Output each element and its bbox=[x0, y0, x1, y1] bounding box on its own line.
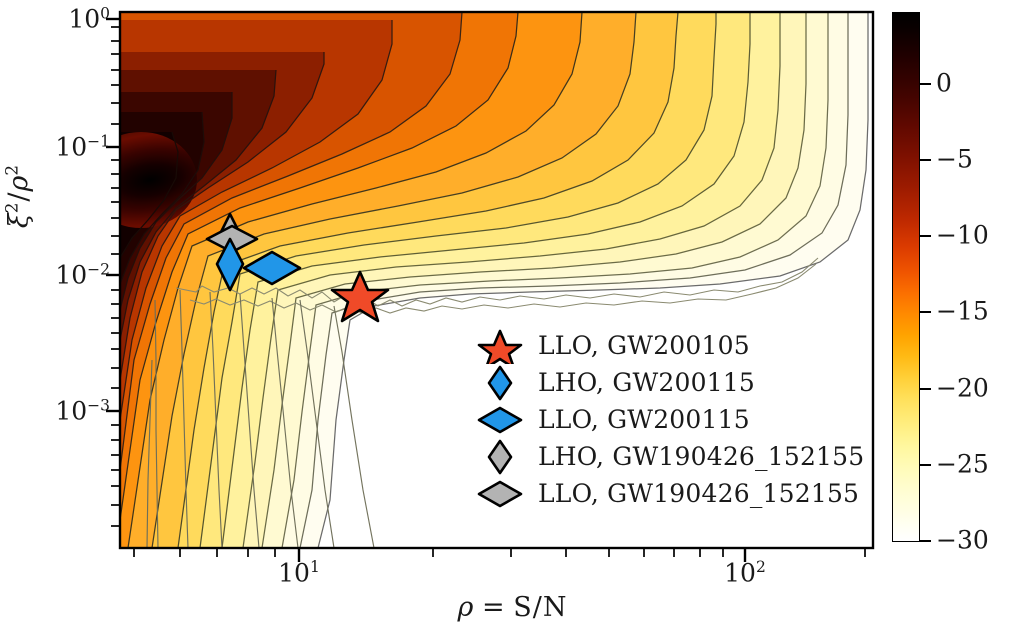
x-tick-label-1e1: 101 bbox=[278, 558, 320, 587]
x-tick-label-1e2: 102 bbox=[724, 558, 766, 587]
legend-label: LHO, GW190426_152155 bbox=[538, 442, 864, 471]
legend-item-llo-gw200105[interactable]: LLO, GW200105 bbox=[476, 327, 864, 364]
y-axis-label: ξ2/ρ2 bbox=[2, 87, 35, 307]
colorbar-gradient bbox=[892, 12, 920, 542]
legend-item-llo-gw200115[interactable]: LLO, GW200115 bbox=[476, 401, 864, 438]
thin-diamond-icon bbox=[476, 364, 524, 401]
colorbar-tick-0 bbox=[920, 83, 931, 85]
x-axis-label: ρ = S/N bbox=[0, 592, 1024, 623]
legend-label: LLO, GW200105 bbox=[538, 331, 750, 360]
y-tick-label-1e-1: 10−1 bbox=[55, 132, 110, 161]
legend: LLO, GW200105 LHO, GW200115 LLO, GW20011… bbox=[476, 327, 864, 512]
colorbar-tick--5 bbox=[920, 159, 931, 161]
wide-diamond-icon bbox=[476, 475, 524, 512]
colorbar-ticklabel--10: −10 bbox=[936, 221, 989, 250]
colorbar-ticklabel--5: −5 bbox=[936, 145, 973, 174]
legend-item-llo-gw190426[interactable]: LLO, GW190426_152155 bbox=[476, 475, 864, 512]
colorbar-tick--15 bbox=[920, 311, 931, 313]
legend-label: LLO, GW190426_152155 bbox=[538, 479, 859, 508]
colorbar-tick--30 bbox=[920, 540, 931, 542]
wide-diamond-icon bbox=[476, 401, 524, 438]
legend-item-lho-gw190426[interactable]: LHO, GW190426_152155 bbox=[476, 438, 864, 475]
colorbar-tick--10 bbox=[920, 235, 931, 237]
legend-label: LLO, GW200115 bbox=[538, 405, 750, 434]
colorbar-ticklabel--30: −30 bbox=[936, 526, 989, 555]
colorbar-ticklabel--20: −20 bbox=[936, 374, 989, 403]
colorbar-tick--20 bbox=[920, 388, 931, 390]
y-tick-label-1e0: 100 bbox=[68, 4, 110, 33]
colorbar-ticklabel--15: −15 bbox=[936, 297, 989, 326]
y-tick-label-1e-3: 10−3 bbox=[55, 396, 110, 425]
y-tick-label-1e-2: 10−2 bbox=[55, 260, 110, 289]
colorbar-ticklabel--25: −25 bbox=[936, 450, 989, 479]
thin-diamond-icon bbox=[476, 438, 524, 475]
legend-label: LHO, GW200115 bbox=[538, 368, 755, 397]
star-icon bbox=[476, 327, 524, 364]
colorbar-tick--25 bbox=[920, 464, 931, 466]
colorbar-ticklabel-0: 0 bbox=[936, 69, 952, 98]
figure-container: 100 10−1 10−2 10−3 101 102 ρ = S/N ξ2/ρ2… bbox=[0, 0, 1024, 631]
contour-plot-svg bbox=[0, 0, 1024, 631]
legend-item-lho-gw200115[interactable]: LHO, GW200115 bbox=[476, 364, 864, 401]
